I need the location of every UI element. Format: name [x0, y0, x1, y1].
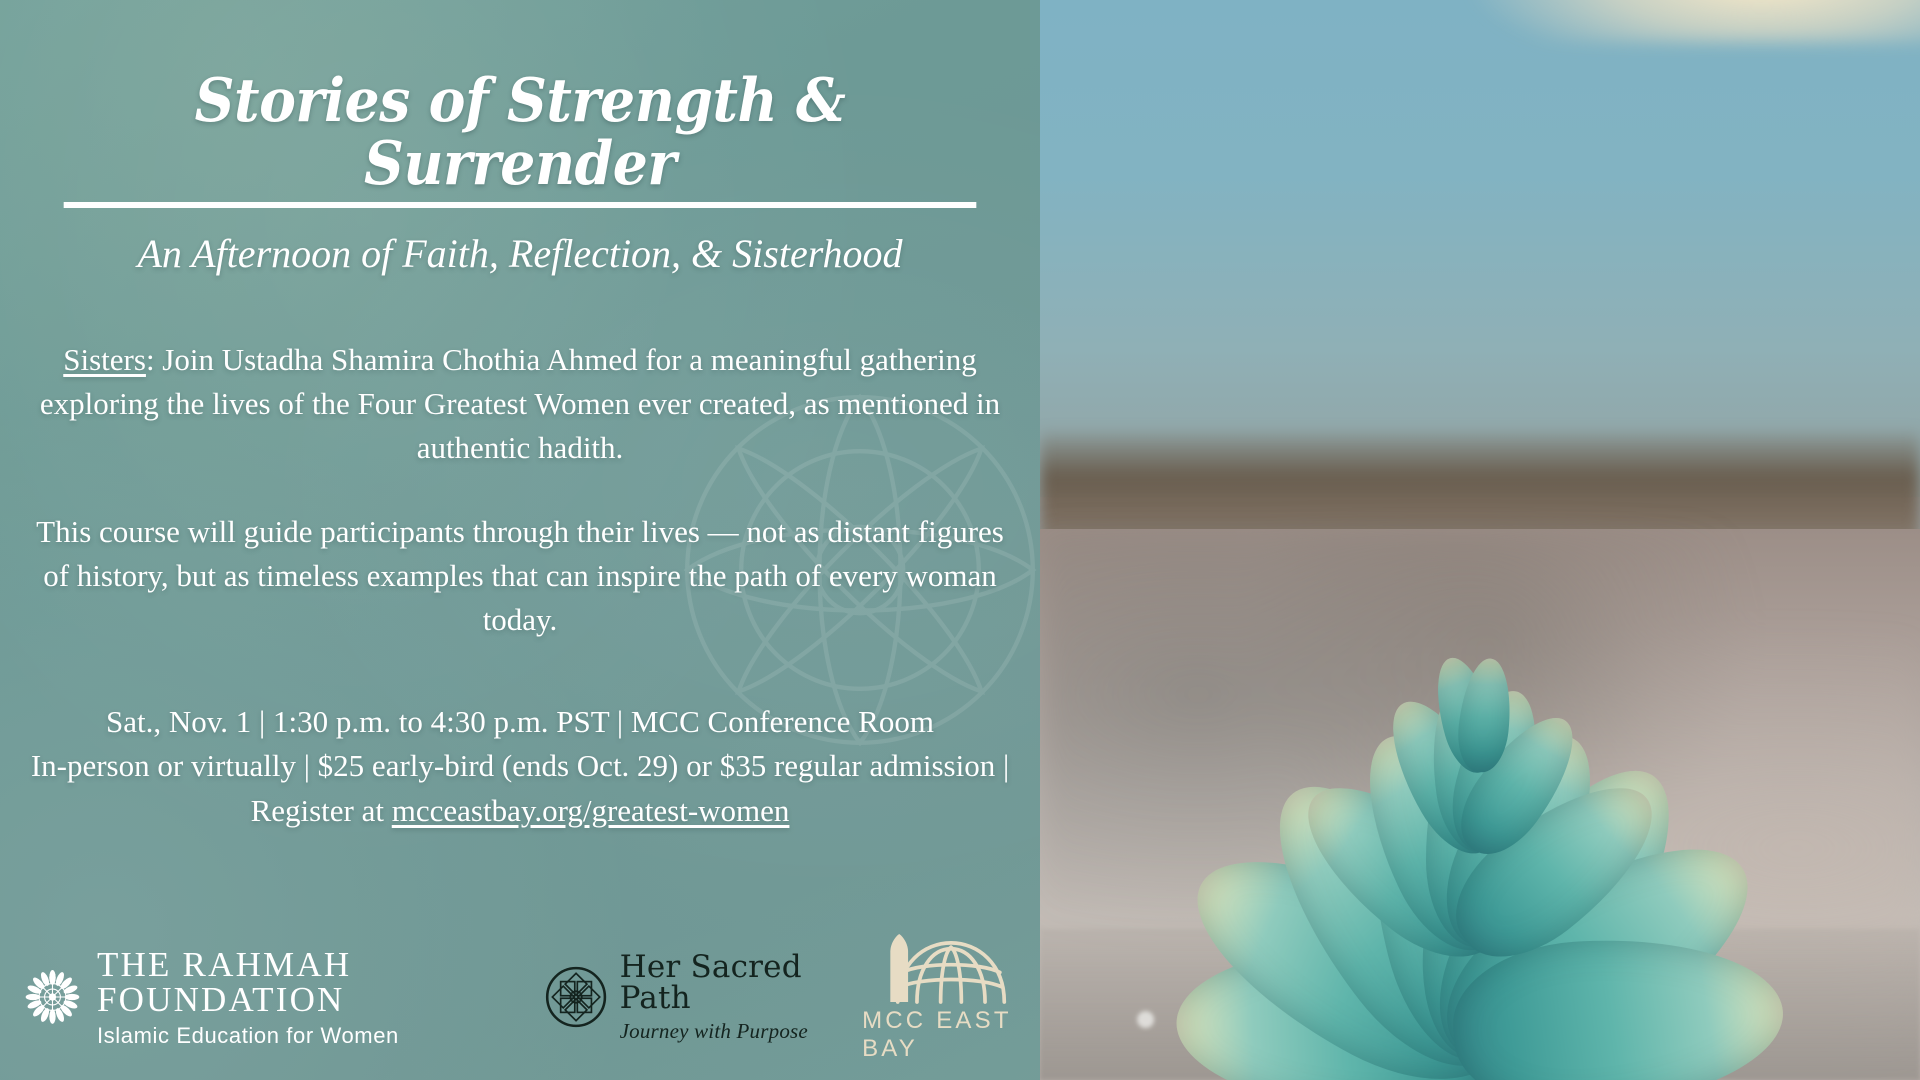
rahmah-text-block: The Rahmah Foundation Islamic Education … — [97, 947, 520, 1047]
mandala-rosette-icon — [22, 960, 83, 1034]
rahmah-name: The Rahmah Foundation — [97, 947, 520, 1017]
logo-rahmah-foundation: The Rahmah Foundation Islamic Education … — [22, 947, 520, 1047]
logo-her-sacred-path: Her Sacred Path Journey with Purpose — [544, 952, 837, 1042]
registration-link[interactable]: mcceastbay.org/greatest-women — [392, 793, 790, 828]
mosque-dome-globe-icon — [877, 931, 1025, 1005]
detail-date-time-location: Sat., Nov. 1 | 1:30 p.m. to 4:30 p.m. PS… — [24, 700, 1016, 744]
content-panel: Stories of Strength & Surrender An After… — [0, 0, 1040, 1080]
event-flyer: Stories of Strength & Surrender An After… — [0, 0, 1920, 1080]
rahmah-tagline: Islamic Education for Women — [97, 1025, 520, 1047]
hsp-tagline: Journey with Purpose — [620, 1021, 836, 1042]
paragraph-intro-text: : Join Ustadha Shamira Chothia Ahmed for… — [40, 342, 1000, 465]
page-title: Stories of Strength & Surrender — [64, 70, 977, 208]
flyer-content: Stories of Strength & Surrender An After… — [0, 0, 1040, 1080]
islamic-star-medallion-icon — [544, 958, 608, 1036]
detail-pricing-registration: In-person or virtually | $25 early-bird … — [24, 744, 1016, 833]
hsp-name: Her Sacred Path — [620, 952, 836, 1014]
logo-row: The Rahmah Foundation Islamic Education … — [0, 932, 1040, 1062]
page-subtitle: An Afternoon of Faith, Reflection, & Sis… — [24, 230, 1016, 278]
paragraph-intro: Sisters: Join Ustadha Shamira Chothia Ah… — [24, 338, 1016, 470]
title-block: Stories of Strength & Surrender — [24, 70, 1016, 214]
logo-mcc-east-bay: MCC EAST BAY — [862, 931, 1040, 1063]
hsp-text-block: Her Sacred Path Journey with Purpose — [620, 952, 836, 1042]
event-details: Sat., Nov. 1 | 1:30 p.m. to 4:30 p.m. PS… — [24, 700, 1016, 833]
sisters-label: Sisters — [63, 342, 146, 377]
body-block: Sisters: Join Ustadha Shamira Chothia Ah… — [24, 338, 1016, 642]
mcc-name: MCC EAST BAY — [862, 1007, 1040, 1063]
paragraph-course-description: This course will guide participants thro… — [24, 510, 1016, 642]
succulent-photo-panel — [1040, 0, 1920, 1080]
succulent-rosette — [1040, 324, 1920, 1080]
sun-glow — [1471, 0, 1920, 43]
